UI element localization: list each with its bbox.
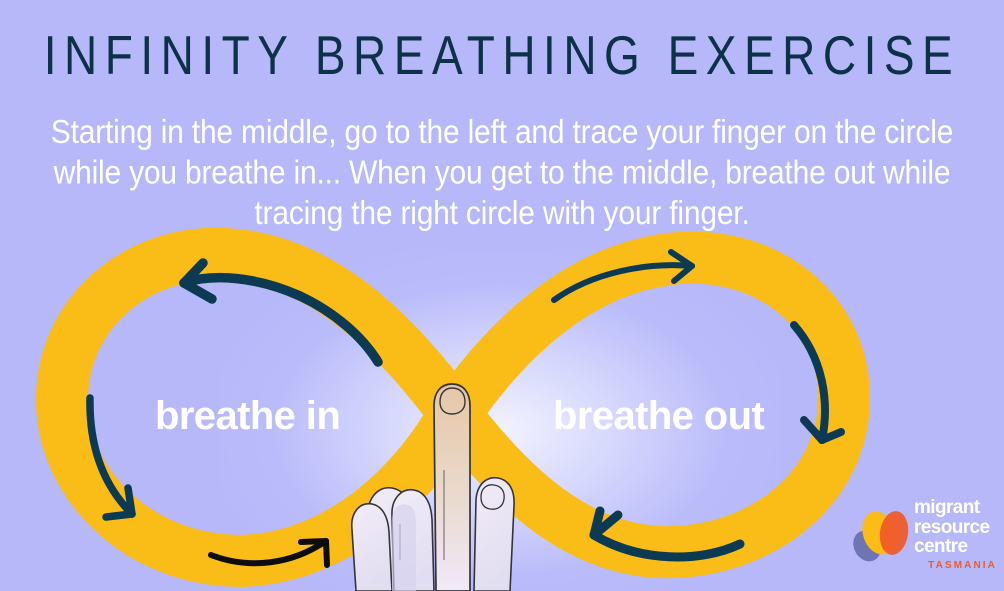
page-title: INFINITY BREATHING EXERCISE — [0, 28, 1004, 82]
logo-wordmark: migrant resource centre TASMANIA — [914, 498, 998, 571]
breathe-out-label: breathe out — [553, 396, 764, 436]
breathe-in-label: breathe in — [155, 396, 340, 436]
logo-line-1: migrant — [914, 498, 998, 518]
logo-tagline: TASMANIA — [914, 560, 998, 571]
instruction-text: Starting in the middle, go to the left a… — [32, 112, 972, 234]
logo-line-3: centre — [914, 537, 998, 557]
migrant-resource-centre-logo: migrant resource centre TASMANIA — [848, 498, 996, 580]
logo-mark-icon — [848, 502, 912, 568]
logo-line-2: resource — [914, 518, 998, 538]
poster-canvas: INFINITY BREATHING EXERCISE Starting in … — [0, 0, 1004, 591]
